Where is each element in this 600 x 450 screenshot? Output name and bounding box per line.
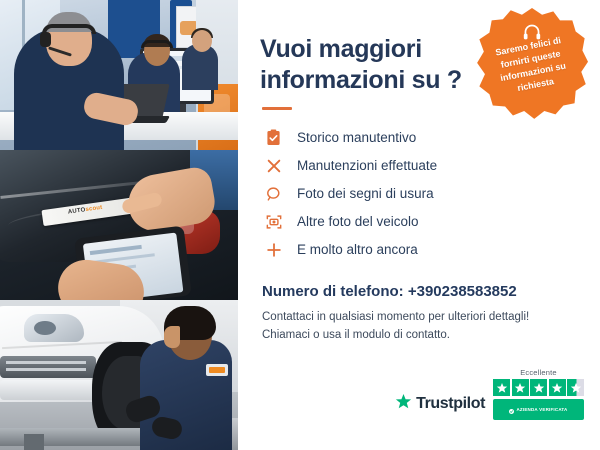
feature-item-storico[interactable]: Storico manutentivo <box>266 124 580 151</box>
clipboard-check-icon <box>266 129 288 147</box>
star-box <box>549 379 566 396</box>
promo-page: AUTOscout <box>0 0 600 450</box>
photo-mechanic-wheel <box>0 300 238 450</box>
feature-label: Storico manutentivo <box>297 130 416 145</box>
verified-check-icon <box>509 401 514 419</box>
content-panel: Vuoi maggiori informazioni su ? Saremo f… <box>238 0 600 450</box>
trustpilot-widget[interactable]: Trustpilot Eccellente <box>395 368 584 420</box>
camera-frame-icon <box>266 213 288 231</box>
photo-vehicle-inspection: AUTOscout <box>0 150 238 300</box>
magnifier-icon <box>266 185 288 203</box>
feature-item-altre-foto[interactable]: Altre foto del veicolo <box>266 208 580 235</box>
promo-badge: Saremo felici di fornirti queste informa… <box>476 8 588 120</box>
trustpilot-logo: Trustpilot <box>395 393 485 420</box>
verified-label: AZIENDA VERIFICATA <box>516 407 567 412</box>
headlight-decor <box>24 314 84 342</box>
uniform-badge-decor <box>206 364 228 376</box>
feature-label: Altre foto del veicolo <box>297 214 419 229</box>
rating-label: Eccellente <box>493 368 584 377</box>
trustpilot-star-icon <box>395 393 412 415</box>
feature-item-manutenzioni[interactable]: Manutenzioni effettuate <box>266 152 580 179</box>
verified-badge: AZIENDA VERIFICATA <box>493 399 584 420</box>
agent-1-earcup-decor <box>40 32 51 47</box>
mechanic-face-decor <box>164 326 180 348</box>
trustpilot-brand: Trustpilot <box>416 395 485 413</box>
phone-line: Numero di telefono: +390238583852 <box>262 283 580 300</box>
feature-item-altro-ancora[interactable]: E molto altro ancora <box>266 236 580 263</box>
phone-label: Numero di telefono: <box>262 283 408 300</box>
tools-cross-icon <box>266 157 288 175</box>
star-box <box>512 379 529 396</box>
feature-label: Foto dei segni di usura <box>297 186 434 201</box>
star-box <box>493 379 510 396</box>
lift-platform-decor <box>0 428 150 446</box>
photo-collage: AUTOscout <box>0 0 238 450</box>
star-rating <box>493 379 584 396</box>
feature-label: E molto altro ancora <box>297 242 418 257</box>
contact-description-line2: Chiamaci o usa il modulo di contatto. <box>262 327 580 345</box>
contact-description: Contattaci in qualsiasi momento per ulte… <box>262 309 580 345</box>
plus-icon <box>266 241 288 259</box>
photo-call-center <box>0 0 238 150</box>
feature-label: Manutenzioni effettuate <box>297 158 437 173</box>
grille-decor <box>0 356 96 378</box>
agent-3-head-decor <box>192 30 212 52</box>
page-title: Vuoi maggiori informazioni su ? <box>260 34 475 95</box>
trustpilot-rating: Eccellente <box>493 368 584 420</box>
star-box <box>530 379 547 396</box>
phone-number[interactable]: +390238583852 <box>408 283 517 300</box>
lift-post-decor <box>24 434 44 450</box>
star-box-half <box>567 379 584 396</box>
title-divider <box>262 107 292 110</box>
agent-2-headset-decor <box>141 40 173 48</box>
feature-item-foto-usura[interactable]: Foto dei segni di usura <box>266 180 580 207</box>
feature-list: Storico manutentivo Manutenzioni effettu… <box>266 124 580 263</box>
contact-description-line1: Contattaci in qualsiasi momento per ulte… <box>262 309 580 327</box>
